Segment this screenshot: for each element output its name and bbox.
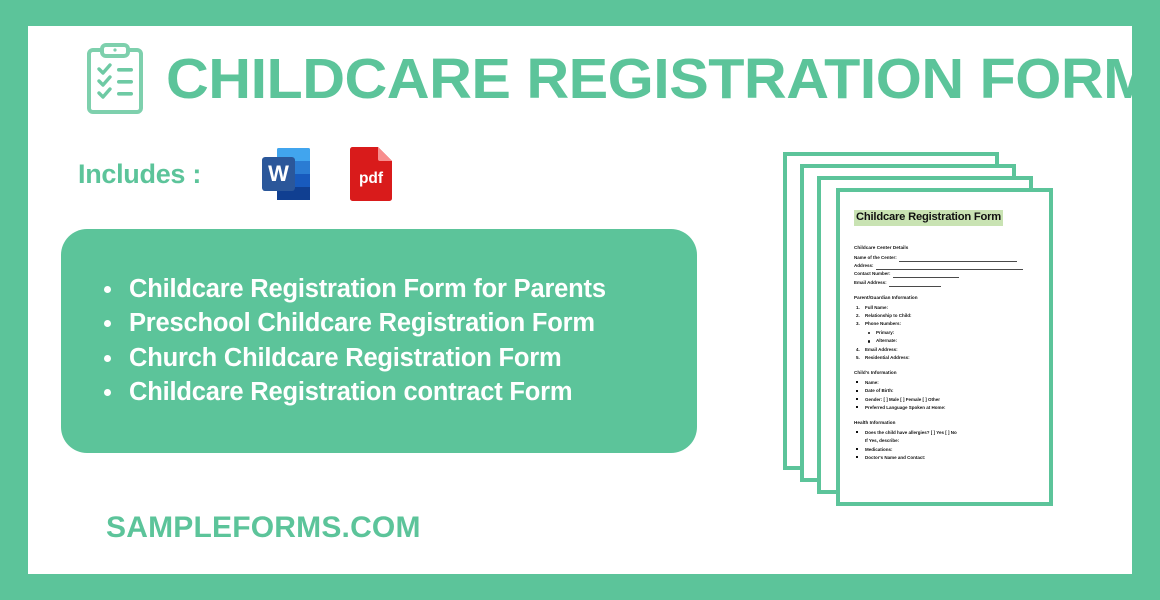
- document-field-line: Name of the Center:: [854, 255, 1035, 262]
- document-list-marker: 5.: [856, 355, 860, 362]
- document-list-marker: [856, 455, 858, 462]
- document-list-marker: 2.: [856, 313, 860, 320]
- document-page-front[interactable]: Childcare Registration Form Childcare Ce…: [836, 188, 1053, 506]
- document-list-marker: [856, 405, 858, 412]
- document-field-rule: [889, 283, 941, 287]
- document-field-rule: [876, 266, 1023, 270]
- form-list-card: Childcare Registration Form for Parents …: [61, 229, 697, 453]
- document-field-rule: [899, 258, 1017, 262]
- document-body: Childcare Center DetailsName of the Cent…: [854, 245, 1035, 462]
- includes-row: Includes : W pdf: [78, 144, 396, 204]
- document-field-label: Primary:: [876, 330, 894, 337]
- document-field-label: Residential Address:: [865, 355, 910, 362]
- document-list-item: Gender: [ ] Male [ ] Female [ ] Other: [854, 397, 1035, 404]
- includes-label: Includes :: [78, 159, 201, 190]
- clipboard-checklist-icon: [86, 43, 144, 115]
- document-field-label: Relationship to Child:: [865, 313, 912, 320]
- document-section-heading: Health Information: [854, 420, 1035, 425]
- svg-text:pdf: pdf: [359, 170, 384, 187]
- document-list-item: 5.Residential Address:: [854, 355, 1035, 362]
- document-list-marker: [856, 397, 858, 404]
- document-field-label: Address:: [854, 263, 874, 270]
- document-section-heading: Childcare Center Details: [854, 245, 1035, 250]
- document-section-heading: Child's Information: [854, 370, 1035, 375]
- document-preview-stack[interactable]: Childcare Registration Form Childcare Ce…: [783, 152, 1083, 502]
- document-list-item: Date of Birth:: [854, 388, 1035, 395]
- pdf-file-icon[interactable]: pdf: [346, 144, 396, 204]
- document-field-label: Name:: [865, 380, 879, 387]
- brand-footer: SAMPLEFORMS.COM: [106, 511, 421, 545]
- document-list-item: 3.Phone Numbers:: [854, 321, 1035, 328]
- document-field-label: Preferred Language Spoken at Home:: [865, 405, 946, 412]
- document-field-label: Phone Numbers:: [865, 321, 901, 328]
- document-list-item: If Yes, describe:: [854, 438, 1035, 445]
- document-list-item: Preferred Language Spoken at Home:: [854, 405, 1035, 412]
- page-header: CHILDCARE REGISTRATION FORM: [86, 43, 1114, 115]
- document-section-heading: Parent/Guardian Information: [854, 295, 1035, 300]
- document-list-item: Medications:: [854, 447, 1035, 454]
- document-field-label: Doctor's Name and Contact:: [865, 455, 925, 462]
- document-field-label: Does the child have allergies? [ ] Yes […: [865, 430, 957, 437]
- document-field-label: Date of Birth:: [865, 388, 894, 395]
- document-list-marker: [868, 331, 870, 337]
- document-list-marker: 1.: [856, 305, 860, 312]
- form-list: Childcare Registration Form for Parents …: [99, 268, 663, 415]
- document-list-marker: [856, 430, 858, 437]
- document-field-rule: [893, 275, 959, 279]
- document-field-label: Full Name:: [865, 305, 888, 312]
- document-list-marker: 4.: [856, 347, 860, 354]
- document-title: Childcare Registration Form: [854, 210, 1003, 226]
- document-field-label: Name of the Center:: [854, 255, 897, 262]
- document-field-line: Address:: [854, 263, 1035, 270]
- document-list-item: Primary:: [854, 330, 1035, 337]
- word-file-icon[interactable]: W: [258, 144, 318, 204]
- document-field-label: Email Address:: [865, 347, 898, 354]
- document-field-label: Alternate:: [876, 338, 897, 345]
- list-item[interactable]: Childcare Registration contract Form: [99, 380, 663, 406]
- document-field-label: Gender: [ ] Male [ ] Female [ ] Other: [865, 397, 940, 404]
- document-list-marker: [856, 380, 858, 387]
- list-item[interactable]: Church Childcare Registration Form: [99, 346, 663, 372]
- document-field-line: Contact Number:: [854, 271, 1035, 278]
- poster-frame: CHILDCARE REGISTRATION FORM Includes : W: [0, 0, 1160, 600]
- document-list-marker: [856, 388, 858, 395]
- page-title: CHILDCARE REGISTRATION FORM: [166, 51, 1132, 108]
- document-list-marker: 3.: [856, 321, 860, 328]
- document-list-item: 1.Full Name:: [854, 305, 1035, 312]
- document-field-line: Email Address:: [854, 280, 1035, 287]
- poster-canvas: CHILDCARE REGISTRATION FORM Includes : W: [28, 26, 1132, 574]
- document-list-item: Alternate:: [854, 338, 1035, 345]
- document-field-label: Contact Number:: [854, 271, 891, 278]
- document-field-label: Email Address:: [854, 280, 887, 287]
- document-field-label: If Yes, describe:: [865, 438, 899, 445]
- document-list-marker: [868, 339, 870, 345]
- list-item[interactable]: Preschool Childcare Registration Form: [99, 311, 663, 337]
- document-list-item: Does the child have allergies? [ ] Yes […: [854, 430, 1035, 437]
- format-icons-group: W pdf: [258, 144, 396, 204]
- document-field-label: Medications:: [865, 447, 893, 454]
- document-list-marker: [856, 447, 858, 454]
- list-item[interactable]: Childcare Registration Form for Parents: [99, 277, 663, 303]
- document-list-item: Name:: [854, 380, 1035, 387]
- document-list-item: Doctor's Name and Contact:: [854, 455, 1035, 462]
- svg-text:W: W: [268, 161, 289, 186]
- document-list-item: 2.Relationship to Child:: [854, 313, 1035, 320]
- document-list-item: 4.Email Address:: [854, 347, 1035, 354]
